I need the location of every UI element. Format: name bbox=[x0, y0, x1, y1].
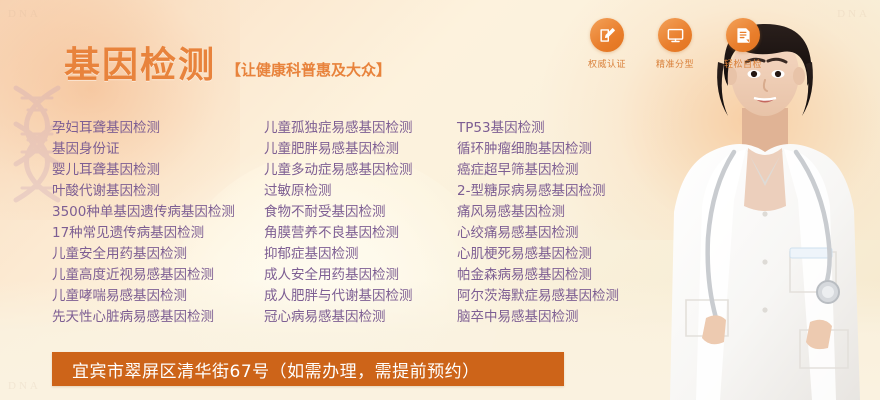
test-items-column-2: 儿童孤独症易感基因检测 儿童肥胖易感基因检测 儿童多动症易感基因检测 过敏原检测… bbox=[264, 118, 457, 328]
feature-badges: 权威认证 精准分型 bbox=[582, 18, 768, 70]
edit-pencil-icon bbox=[598, 26, 617, 45]
list-item: 心肌梗死易感基因检测 bbox=[457, 244, 662, 265]
badge-authority-certification[interactable]: 权威认证 bbox=[582, 18, 632, 70]
list-item: 儿童哮喘易感基因检测 bbox=[52, 286, 264, 307]
list-item: 癌症超早筛基因检测 bbox=[457, 160, 662, 181]
list-item: 儿童多动症易感基因检测 bbox=[264, 160, 457, 181]
list-item: 17种常见遗传病基因检测 bbox=[52, 223, 264, 244]
corner-watermark-top-left: DNA bbox=[8, 8, 41, 20]
list-item: 成人肥胖与代谢基因检测 bbox=[264, 286, 457, 307]
test-items-column-3: TP53基因检测 循环肿瘤细胞基因检测 癌症超早筛基因检测 2-型糖尿病易感基因… bbox=[457, 118, 662, 328]
list-item: 循环肿瘤细胞基因检测 bbox=[457, 139, 662, 160]
list-item: 食物不耐受基因检测 bbox=[264, 202, 457, 223]
badge-circle bbox=[590, 18, 624, 52]
list-item: 叶酸代谢基因检测 bbox=[52, 181, 264, 202]
badge-label: 精准分型 bbox=[656, 57, 694, 70]
list-item: TP53基因检测 bbox=[457, 118, 662, 139]
corner-watermark-bottom-left: DNA bbox=[8, 380, 41, 392]
badge-precise-typing[interactable]: 精准分型 bbox=[650, 18, 700, 70]
list-item: 基因身份证 bbox=[52, 139, 264, 160]
test-items-grid: 孕妇耳聋基因检测 基因身份证 婴儿耳聋基因检测 叶酸代谢基因检测 3500种单基… bbox=[52, 118, 662, 328]
list-item: 儿童孤独症易感基因检测 bbox=[264, 118, 457, 139]
list-item: 3500种单基因遗传病基因检测 bbox=[52, 202, 264, 223]
list-item: 婴儿耳聋基因检测 bbox=[52, 160, 264, 181]
document-report-icon bbox=[734, 26, 753, 45]
list-item: 心绞痛易感基因检测 bbox=[457, 223, 662, 244]
address-banner: 宜宾市翠屏区清华街67号（如需办理，需提前预约） bbox=[52, 352, 564, 386]
list-item: 儿童肥胖易感基因检测 bbox=[264, 139, 457, 160]
badge-label: 轻松自检 bbox=[724, 57, 762, 70]
list-item: 先天性心脏病易感基因检测 bbox=[52, 307, 264, 328]
monitor-icon bbox=[666, 26, 685, 45]
test-items-column-1: 孕妇耳聋基因检测 基因身份证 婴儿耳聋基因检测 叶酸代谢基因检测 3500种单基… bbox=[52, 118, 264, 328]
address-text: 宜宾市翠屏区清华街67号（如需办理，需提前预约） bbox=[52, 357, 480, 382]
title-block: 基因检测 【让健康科普惠及大众】 bbox=[64, 48, 391, 84]
badge-circle bbox=[658, 18, 692, 52]
list-item: 过敏原检测 bbox=[264, 181, 457, 202]
list-item: 阿尔茨海默症易感基因检测 bbox=[457, 286, 662, 307]
list-item: 2-型糖尿病易感基因检测 bbox=[457, 181, 662, 202]
list-item: 孕妇耳聋基因检测 bbox=[52, 118, 264, 139]
page-title: 基因检测 bbox=[64, 48, 216, 84]
badge-circle bbox=[726, 18, 760, 52]
badge-easy-self-check[interactable]: 轻松自检 bbox=[718, 18, 768, 70]
list-item: 脑卒中易感基因检测 bbox=[457, 307, 662, 328]
list-item: 抑郁症基因检测 bbox=[264, 244, 457, 265]
list-item: 儿童高度近视易感基因检测 bbox=[52, 265, 264, 286]
gene-testing-poster: DNA DNA DNA 基因检测 【让健康科普惠及大众】 权威认证 bbox=[0, 0, 880, 400]
list-item: 儿童安全用药基因检测 bbox=[52, 244, 264, 265]
list-item: 冠心病易感基因检测 bbox=[264, 307, 457, 328]
list-item: 角膜营养不良基因检测 bbox=[264, 223, 457, 244]
badge-label: 权威认证 bbox=[588, 57, 626, 70]
list-item: 成人安全用药基因检测 bbox=[264, 265, 457, 286]
list-item: 痛风易感基因检测 bbox=[457, 202, 662, 223]
list-item: 帕金森病易感基因检测 bbox=[457, 265, 662, 286]
page-subtitle: 【让健康科普惠及大众】 bbox=[226, 59, 391, 84]
